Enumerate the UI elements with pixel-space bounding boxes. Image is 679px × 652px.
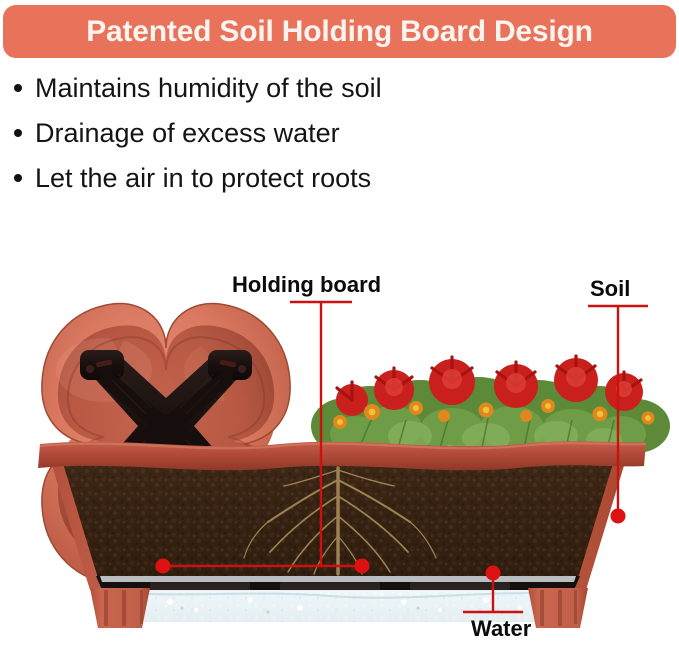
marker-dot-water bbox=[486, 566, 501, 581]
list-item: Maintains humidity of the soil bbox=[14, 70, 534, 106]
callout-label-soil: Soil bbox=[590, 278, 630, 300]
list-item-label: Maintains humidity of the soil bbox=[35, 70, 382, 106]
list-item: Drainage of excess water bbox=[14, 115, 534, 151]
page-title: Patented Soil Holding Board Design bbox=[86, 17, 593, 47]
header-banner: Patented Soil Holding Board Design bbox=[3, 5, 676, 58]
bullet-icon bbox=[14, 174, 22, 182]
marker-dot-soil bbox=[611, 509, 626, 524]
feature-list: Maintains humidity of the soil Drainage … bbox=[14, 70, 534, 205]
bullet-icon bbox=[14, 84, 22, 92]
list-item: Let the air in to protect roots bbox=[14, 160, 534, 196]
marker-dot-holding-board-pot bbox=[355, 559, 370, 574]
plant-foliage bbox=[311, 356, 670, 454]
list-item-label: Let the air in to protect roots bbox=[35, 160, 371, 196]
marker-dot-holding-board-left bbox=[156, 559, 171, 574]
bullet-icon bbox=[14, 129, 22, 137]
holding-board-layer bbox=[96, 576, 580, 591]
callout-label-holding-board: Holding board bbox=[232, 274, 381, 296]
callout-label-water: Water bbox=[471, 618, 531, 640]
list-item-label: Drainage of excess water bbox=[35, 115, 340, 151]
